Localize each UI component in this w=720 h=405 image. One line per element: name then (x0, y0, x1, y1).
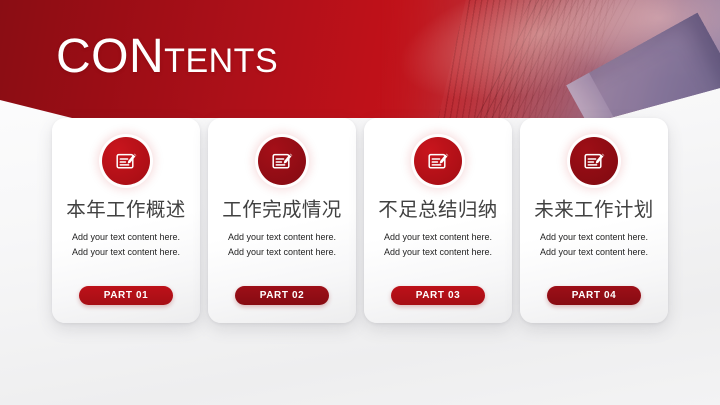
card-description-line-2: Add your text content here. (384, 245, 492, 260)
contents-card-1[interactable]: 本年工作概述 Add your text content here. Add y… (52, 118, 200, 323)
card-title: 未来工作计划 (534, 200, 653, 221)
part-button-1[interactable]: PART 01 (79, 286, 173, 305)
document-edit-icon (102, 137, 150, 185)
page-title-secondary: TENTS (164, 42, 278, 80)
card-title: 不足总结归纳 (378, 200, 497, 221)
card-description: Add your text content here. Add your tex… (228, 230, 336, 260)
part-button-4[interactable]: PART 04 (547, 286, 641, 305)
document-edit-icon (258, 137, 306, 185)
contents-card-2[interactable]: 工作完成情况 Add your text content here. Add y… (208, 118, 356, 323)
card-title: 工作完成情况 (222, 200, 341, 221)
card-title: 本年工作概述 (66, 200, 185, 221)
part-button-2[interactable]: PART 02 (235, 286, 329, 305)
card-description-line-1: Add your text content here. (72, 230, 180, 245)
page-title-primary: CON (56, 30, 164, 83)
card-description: Add your text content here. Add your tex… (540, 230, 648, 260)
card-description-line-1: Add your text content here. (384, 230, 492, 245)
contents-card-3[interactable]: 不足总结归纳 Add your text content here. Add y… (364, 118, 512, 323)
contents-slide: CONTENTS 本年工作概述 Add your text content he… (0, 0, 720, 405)
card-description-line-1: Add your text content here. (228, 230, 336, 245)
contents-card-row: 本年工作概述 Add your text content here. Add y… (0, 118, 720, 330)
card-description-line-2: Add your text content here. (72, 245, 180, 260)
contents-card-4[interactable]: 未来工作计划 Add your text content here. Add y… (520, 118, 668, 323)
card-description-line-2: Add your text content here. (540, 245, 648, 260)
card-description: Add your text content here. Add your tex… (72, 230, 180, 260)
card-description-line-1: Add your text content here. (540, 230, 648, 245)
card-description-line-2: Add your text content here. (228, 245, 336, 260)
document-edit-icon (570, 137, 618, 185)
document-edit-icon (414, 137, 462, 185)
card-description: Add your text content here. Add your tex… (384, 230, 492, 260)
page-title: CONTENTS (56, 33, 278, 81)
part-button-3[interactable]: PART 03 (391, 286, 485, 305)
